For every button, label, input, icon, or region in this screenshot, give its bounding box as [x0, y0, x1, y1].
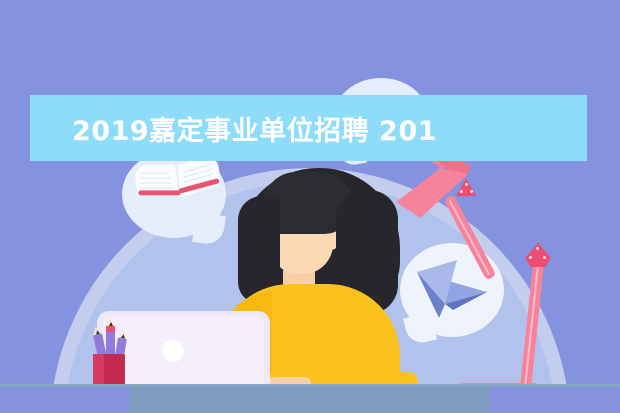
desk-mask-left	[0, 387, 130, 413]
paper-plane-icon	[415, 258, 489, 320]
laptop-lid-inner	[103, 316, 264, 393]
book-edge-left	[138, 190, 180, 195]
scene-background: ?	[0, 0, 620, 413]
illustration-stage: ?	[0, 0, 620, 413]
pencil-band	[106, 326, 115, 332]
desk-mask-right	[490, 387, 620, 413]
banner-title-text: 2019嘉定事业单位招聘 201	[72, 109, 437, 148]
laptop-logo-icon	[162, 340, 184, 362]
lamp-joint-middle	[525, 243, 551, 267]
title-banner: 2019嘉定事业单位招聘 201	[30, 95, 587, 161]
